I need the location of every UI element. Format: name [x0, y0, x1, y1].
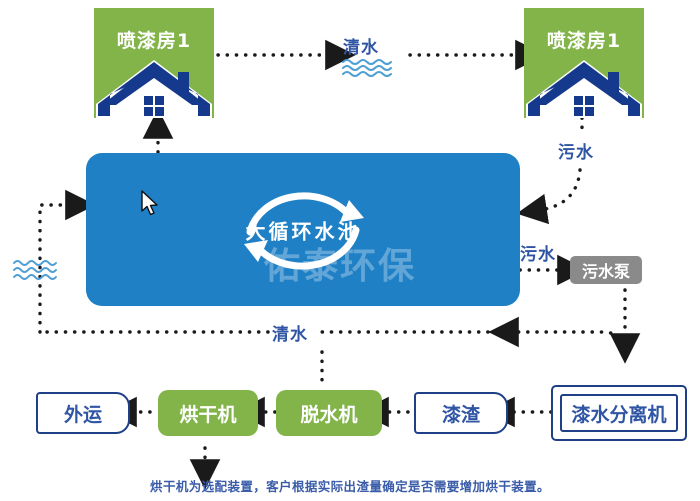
edge-label-clean-water-bottom: 清水 [272, 320, 308, 345]
dehydrator-label: 脱水机 [300, 400, 357, 427]
edge-label-sewage-lower: 污水 [520, 240, 556, 265]
edge-label-clean-water-top: 清水 [343, 33, 379, 58]
pool-title: 大循环水池 [86, 215, 520, 244]
footer-note: 烘干机为选配装置，客户根据实际出渣量确定是否需要增加烘干装置。 [0, 476, 700, 495]
separator-inner-frame: 漆水分离机 [560, 394, 678, 432]
node-outbound[interactable]: 外运 [36, 392, 130, 434]
water-wave-icon [12, 258, 64, 280]
house-icon [94, 56, 214, 118]
sewage-pump-label: 污水泵 [582, 258, 630, 282]
water-wave-icon [341, 57, 397, 77]
outbound-label: 外运 [64, 400, 102, 427]
flow-diagram-canvas: 喷漆房1 喷漆房1 清水 [0, 0, 700, 501]
separator-label: 漆水分离机 [571, 400, 666, 427]
paint-residue-label: 漆渣 [442, 400, 480, 427]
node-sewage-pump[interactable]: 污水泵 [570, 256, 642, 284]
mouse-cursor [141, 190, 161, 217]
node-spray-booth-right[interactable]: 喷漆房1 [524, 8, 644, 118]
node-dehydrator[interactable]: 脱水机 [276, 390, 382, 436]
node-spray-booth-left[interactable]: 喷漆房1 [94, 8, 214, 118]
node-circulation-pool[interactable]: 大循环水池 佑泰环保 [86, 153, 520, 306]
spray-booth-left-label: 喷漆房1 [94, 26, 214, 53]
node-paint-water-separator[interactable]: 漆水分离机 [551, 385, 687, 441]
node-paint-residue[interactable]: 漆渣 [414, 392, 508, 434]
spray-booth-right-label: 喷漆房1 [524, 26, 644, 53]
house-icon [524, 56, 644, 118]
dryer-label: 烘干机 [179, 400, 236, 427]
edge-label-sewage-upper: 污水 [558, 138, 594, 163]
node-dryer[interactable]: 烘干机 [158, 390, 258, 436]
